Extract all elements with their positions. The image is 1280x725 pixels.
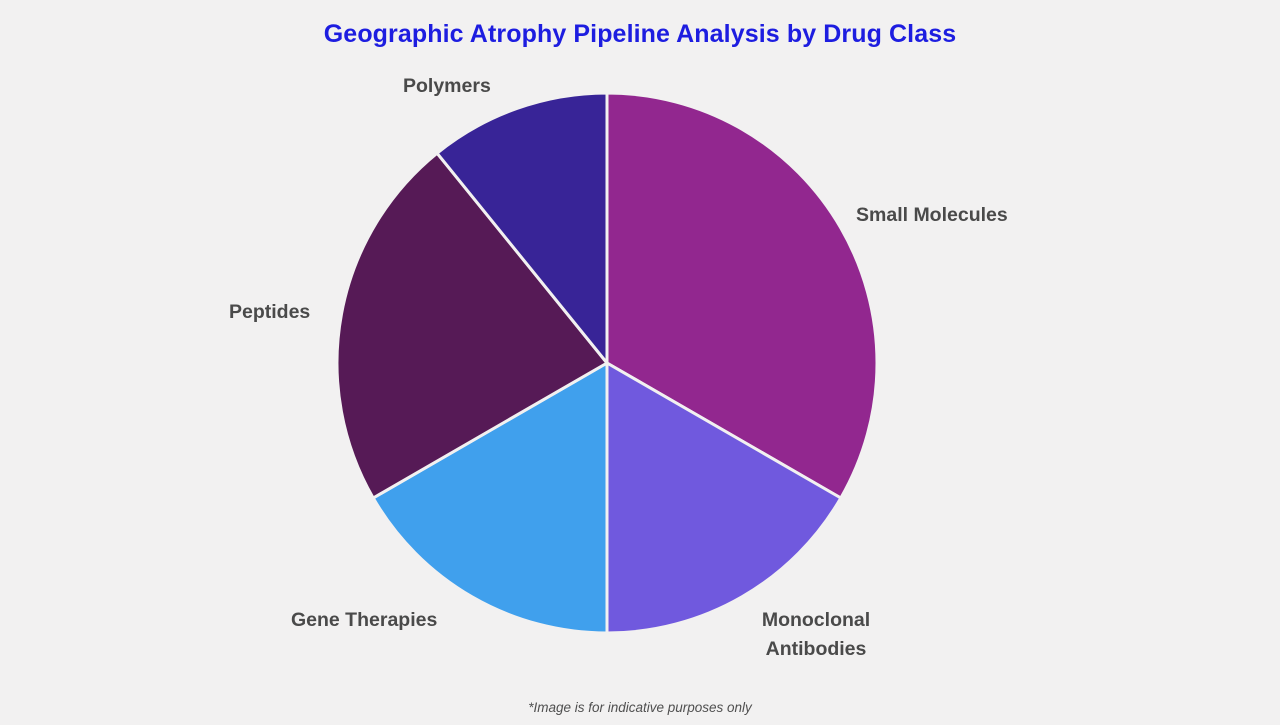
pie-slice-group <box>337 93 877 633</box>
slice-label-small-molecules: Small Molecules <box>856 201 1008 230</box>
pie-svg <box>0 0 1280 720</box>
pie-chart-figure: Geographic Atrophy Pipeline Analysis by … <box>0 0 1280 720</box>
slice-label-polymers: Polymers <box>403 72 491 101</box>
footnote: *Image is for indicative purposes only <box>0 700 1280 715</box>
slice-label-monoclonal-antibodies: Monoclonal Antibodies <box>752 606 880 664</box>
slice-label-peptides: Peptides <box>229 298 310 327</box>
slice-label-gene-therapies: Gene Therapies <box>291 606 437 635</box>
pie-plot-area <box>0 0 1280 720</box>
